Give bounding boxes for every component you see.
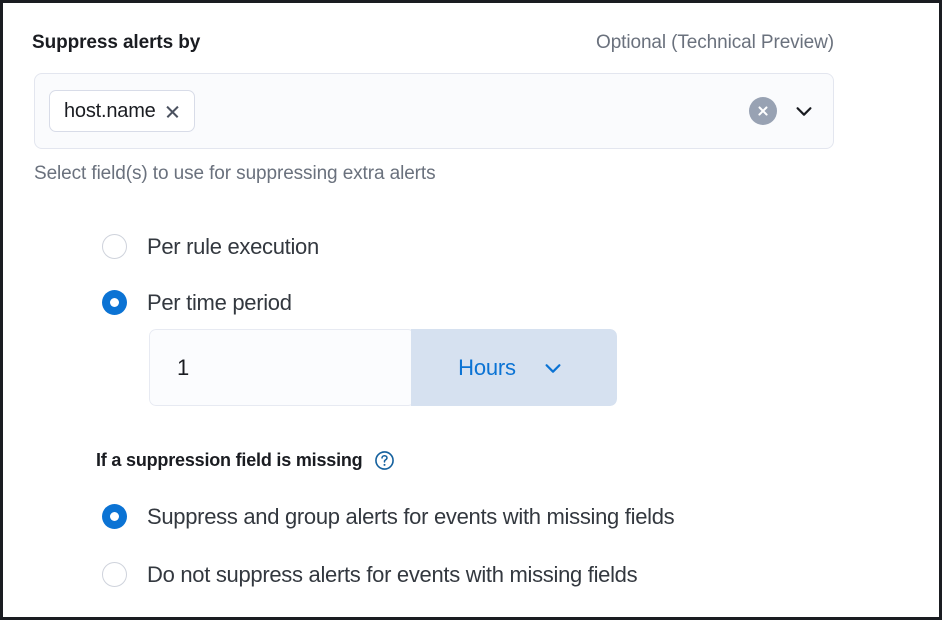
selected-field-label: host.name — [64, 100, 156, 123]
combobox-actions — [749, 97, 819, 125]
radio-button-unchecked-icon[interactable] — [102, 562, 127, 587]
field-header: Suppress alerts by Optional (Technical P… — [32, 32, 834, 54]
duration-value-input[interactable]: 1 — [149, 329, 415, 406]
question-circle-icon[interactable] — [375, 451, 394, 470]
radio-label: Do not suppress alerts for events with m… — [147, 564, 637, 586]
radio-label: Per rule execution — [147, 236, 319, 258]
missing-field-header: If a suppression field is missing — [96, 450, 394, 471]
duration-unit-label: Hours — [458, 355, 516, 381]
duration-unit-select[interactable]: Hours — [411, 329, 617, 406]
radio-per-rule-execution[interactable]: Per rule execution — [102, 234, 319, 259]
radio-per-time-period[interactable]: Per time period — [102, 290, 292, 315]
suppress-alerts-form: Suppress alerts by Optional (Technical P… — [3, 3, 939, 617]
page-title: Suppress alerts by — [32, 32, 200, 54]
radio-button-unchecked-icon[interactable] — [102, 234, 127, 259]
chevron-down-icon[interactable] — [542, 357, 564, 379]
clear-circle-x-icon[interactable] — [749, 97, 777, 125]
screenshot-frame: Suppress alerts by Optional (Technical P… — [0, 0, 942, 620]
suppress-by-combobox[interactable]: host.name — [34, 73, 834, 149]
selected-field-pill[interactable]: host.name — [49, 90, 195, 132]
radio-button-checked-icon[interactable] — [102, 290, 127, 315]
duration-control[interactable]: 1 Hours — [149, 329, 617, 406]
radio-button-checked-icon[interactable] — [102, 504, 127, 529]
radio-do-not-suppress[interactable]: Do not suppress alerts for events with m… — [102, 562, 637, 587]
helper-text: Select field(s) to use for suppressing e… — [34, 163, 435, 185]
chevron-down-icon[interactable] — [793, 100, 815, 122]
missing-field-label: If a suppression field is missing — [96, 450, 362, 471]
close-x-icon[interactable] — [165, 104, 180, 119]
radio-label: Per time period — [147, 292, 292, 314]
radio-suppress-and-group[interactable]: Suppress and group alerts for events wit… — [102, 504, 674, 529]
radio-label: Suppress and group alerts for events wit… — [147, 506, 674, 528]
optional-badge: Optional (Technical Preview) — [596, 32, 834, 54]
